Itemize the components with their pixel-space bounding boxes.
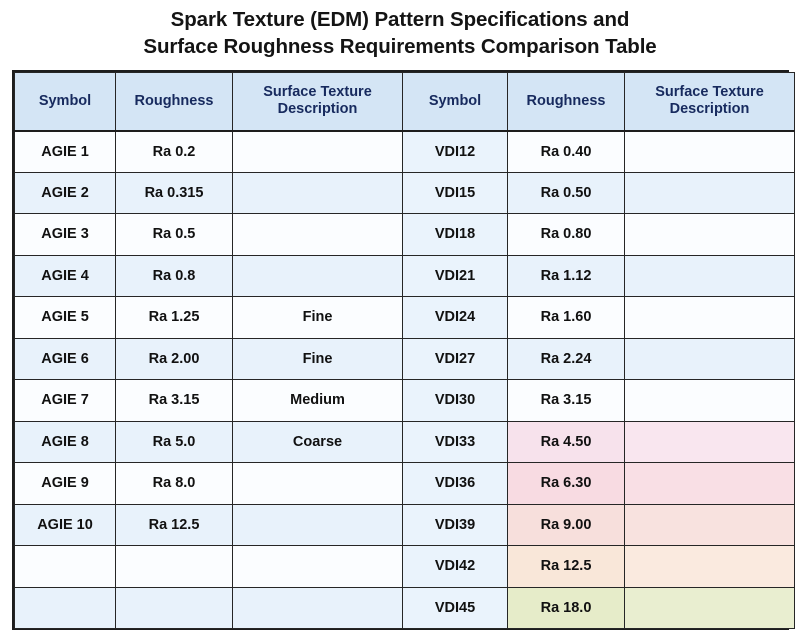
cell-roughness-left: Ra 0.2 xyxy=(116,131,233,173)
cell-description-right xyxy=(625,380,795,422)
cell-roughness-left: Ra 12.5 xyxy=(116,504,233,546)
cell-symbol-left: AGIE 8 xyxy=(15,421,116,463)
cell-symbol-right: VDI33 xyxy=(403,421,508,463)
cell-roughness-left: Ra 0.315 xyxy=(116,172,233,214)
table-row: AGIE 1Ra 0.2VDI12Ra 0.40 xyxy=(15,131,795,173)
cell-roughness-right: Ra 3.15 xyxy=(508,380,625,422)
cell-symbol-left: AGIE 1 xyxy=(15,131,116,173)
cell-roughness-right: Ra 9.00 xyxy=(508,504,625,546)
page-title-line-1: Spark Texture (EDM) Pattern Specificatio… xyxy=(0,7,800,34)
cell-symbol-left: AGIE 2 xyxy=(15,172,116,214)
cell-symbol-left: AGIE 3 xyxy=(15,214,116,256)
table-row: AGIE 6Ra 2.00FineVDI27Ra 2.24 xyxy=(15,338,795,380)
table-row: AGIE 8Ra 5.0CoarseVDI33Ra 4.50 xyxy=(15,421,795,463)
cell-roughness-right: Ra 1.60 xyxy=(508,297,625,339)
cell-description-right xyxy=(625,546,795,588)
cell-description-left: Fine xyxy=(233,297,403,339)
table-body: AGIE 1Ra 0.2VDI12Ra 0.40AGIE 2Ra 0.315VD… xyxy=(15,131,795,629)
cell-roughness-right: Ra 0.80 xyxy=(508,214,625,256)
cell-description-left xyxy=(233,587,403,629)
cell-symbol-right: VDI12 xyxy=(403,131,508,173)
cell-symbol-left xyxy=(15,546,116,588)
table-row: AGIE 2Ra 0.315VDI15Ra 0.50 xyxy=(15,172,795,214)
cell-description-right xyxy=(625,131,795,173)
cell-description-right xyxy=(625,504,795,546)
cell-symbol-right: VDI45 xyxy=(403,587,508,629)
cell-roughness-right: Ra 0.50 xyxy=(508,172,625,214)
cell-symbol-left: AGIE 7 xyxy=(15,380,116,422)
cell-description-left: Fine xyxy=(233,338,403,380)
cell-description-right xyxy=(625,421,795,463)
cell-roughness-left: Ra 8.0 xyxy=(116,463,233,505)
table-row: AGIE 4Ra 0.8VDI21Ra 1.12 xyxy=(15,255,795,297)
page-title: Spark Texture (EDM) Pattern Specificatio… xyxy=(0,0,800,60)
cell-description-left: Coarse xyxy=(233,421,403,463)
cell-roughness-left: Ra 2.00 xyxy=(116,338,233,380)
cell-roughness-left: Ra 0.5 xyxy=(116,214,233,256)
cell-symbol-left: AGIE 4 xyxy=(15,255,116,297)
comparison-table-container: Symbol Roughness Surface Texture Descrip… xyxy=(12,70,789,630)
header-description-left-line-1: Surface Texture xyxy=(233,84,402,101)
cell-symbol-left: AGIE 6 xyxy=(15,338,116,380)
page-title-line-2: Surface Roughness Requirements Compariso… xyxy=(0,34,800,61)
table-row: AGIE 5Ra 1.25FineVDI24Ra 1.60 xyxy=(15,297,795,339)
cell-description-left xyxy=(233,463,403,505)
cell-roughness-right: Ra 18.0 xyxy=(508,587,625,629)
table-page: Spark Texture (EDM) Pattern Specificatio… xyxy=(0,0,800,640)
header-description-left: Surface Texture Description xyxy=(233,73,403,131)
table-row: AGIE 3Ra 0.5VDI18Ra 0.80 xyxy=(15,214,795,256)
cell-symbol-right: VDI36 xyxy=(403,463,508,505)
cell-description-right xyxy=(625,172,795,214)
table-row: VDI42Ra 12.5 xyxy=(15,546,795,588)
cell-roughness-right: Ra 6.30 xyxy=(508,463,625,505)
cell-symbol-right: VDI42 xyxy=(403,546,508,588)
cell-symbol-right: VDI30 xyxy=(403,380,508,422)
cell-symbol-right: VDI18 xyxy=(403,214,508,256)
cell-description-right xyxy=(625,214,795,256)
table-row: VDI45Ra 18.0 xyxy=(15,587,795,629)
table-row: AGIE 9Ra 8.0VDI36Ra 6.30 xyxy=(15,463,795,505)
cell-roughness-left: Ra 0.8 xyxy=(116,255,233,297)
cell-description-left: Medium xyxy=(233,380,403,422)
comparison-table: Symbol Roughness Surface Texture Descrip… xyxy=(14,72,795,629)
cell-description-left xyxy=(233,504,403,546)
cell-description-left xyxy=(233,172,403,214)
header-roughness-left: Roughness xyxy=(116,73,233,131)
header-symbol-left: Symbol xyxy=(15,73,116,131)
cell-roughness-right: Ra 1.12 xyxy=(508,255,625,297)
cell-description-left xyxy=(233,214,403,256)
table-header: Symbol Roughness Surface Texture Descrip… xyxy=(15,73,795,131)
cell-roughness-left: Ra 1.25 xyxy=(116,297,233,339)
cell-symbol-right: VDI21 xyxy=(403,255,508,297)
cell-roughness-left xyxy=(116,587,233,629)
header-row: Symbol Roughness Surface Texture Descrip… xyxy=(15,73,795,131)
cell-description-right xyxy=(625,338,795,380)
cell-description-right xyxy=(625,463,795,505)
cell-description-left xyxy=(233,255,403,297)
cell-roughness-left: Ra 5.0 xyxy=(116,421,233,463)
table-row: AGIE 7Ra 3.15MediumVDI30Ra 3.15 xyxy=(15,380,795,422)
table-row: AGIE 10Ra 12.5VDI39Ra 9.00 xyxy=(15,504,795,546)
header-description-right-line-1: Surface Texture xyxy=(625,84,794,101)
header-roughness-right: Roughness xyxy=(508,73,625,131)
cell-roughness-right: Ra 2.24 xyxy=(508,338,625,380)
cell-roughness-right: Ra 4.50 xyxy=(508,421,625,463)
cell-roughness-left xyxy=(116,546,233,588)
cell-description-left xyxy=(233,546,403,588)
cell-symbol-right: VDI27 xyxy=(403,338,508,380)
cell-symbol-left: AGIE 5 xyxy=(15,297,116,339)
cell-roughness-left: Ra 3.15 xyxy=(116,380,233,422)
cell-symbol-right: VDI15 xyxy=(403,172,508,214)
cell-symbol-left xyxy=(15,587,116,629)
cell-description-right xyxy=(625,297,795,339)
cell-symbol-right: VDI39 xyxy=(403,504,508,546)
cell-description-right xyxy=(625,255,795,297)
header-description-left-line-2: Description xyxy=(233,101,402,118)
header-symbol-right: Symbol xyxy=(403,73,508,131)
cell-symbol-right: VDI24 xyxy=(403,297,508,339)
cell-symbol-left: AGIE 9 xyxy=(15,463,116,505)
cell-description-left xyxy=(233,131,403,173)
cell-roughness-right: Ra 0.40 xyxy=(508,131,625,173)
header-description-right: Surface Texture Description xyxy=(625,73,795,131)
cell-description-right xyxy=(625,587,795,629)
cell-roughness-right: Ra 12.5 xyxy=(508,546,625,588)
cell-symbol-left: AGIE 10 xyxy=(15,504,116,546)
header-description-right-line-2: Description xyxy=(625,101,794,118)
